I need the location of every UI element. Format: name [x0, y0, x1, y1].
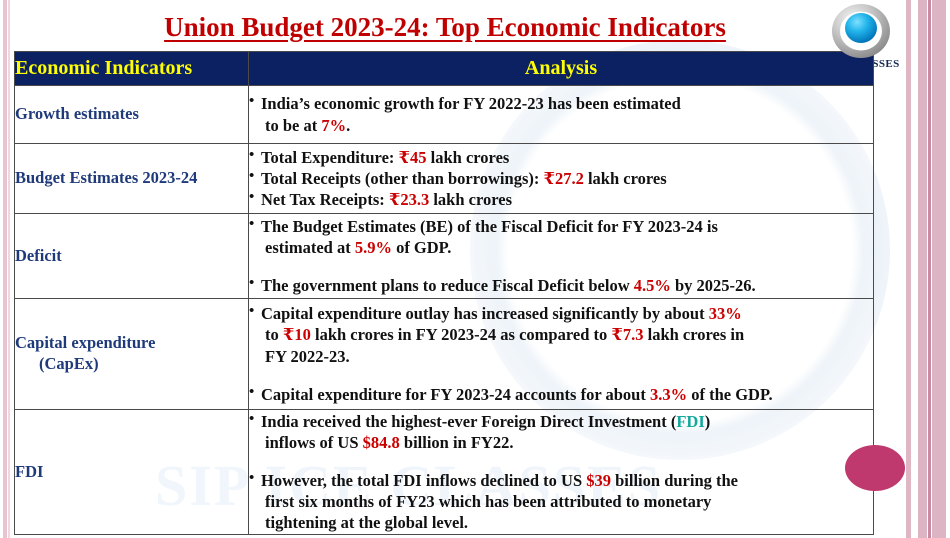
bullet-text: lakh crores	[584, 169, 667, 188]
bullet-text: lakh crores in	[643, 325, 744, 344]
table-row: Deficit The Budget Estimates (BE) of the…	[15, 214, 874, 299]
bullet-text: )	[705, 412, 711, 431]
table-row: Capital expenditure (CapEx) Capital expe…	[15, 299, 874, 410]
bullet-item: Capital expenditure for FY 2023-24 accou…	[249, 384, 873, 405]
page-title: Union Budget 2023-24: Top Economic Indic…	[0, 12, 890, 43]
bullet-item: The Budget Estimates (BE) of the Fiscal …	[249, 216, 873, 258]
table-row: FDI India received the highest-ever Fore…	[15, 410, 874, 535]
highlight-value: 7%	[321, 116, 346, 135]
row-label-subtext: (CapEx)	[15, 354, 248, 375]
bullet-item: Total Expenditure: ₹45 lakh crores	[249, 147, 873, 168]
right-stripe-4	[932, 0, 946, 538]
table-row: Budget Estimates 2023-24 Total Expenditu…	[15, 144, 874, 214]
highlight-value: $39	[586, 471, 611, 490]
row-analysis-deficit: The Budget Estimates (BE) of the Fiscal …	[249, 214, 874, 299]
economic-indicators-table: Economic Indicators Analysis Growth esti…	[14, 51, 874, 535]
bullet-line: estimated at 5.9% of GDP.	[261, 237, 873, 258]
bullet-text: of GDP.	[392, 238, 451, 257]
highlight-value: 3.3%	[650, 385, 687, 404]
bullet-line: to be at 7%.	[261, 115, 873, 136]
row-label-text: Capital expenditure	[15, 333, 155, 352]
highlight-value: 4.5%	[634, 276, 671, 295]
highlight-value: 5.9%	[355, 238, 392, 257]
right-stripe-3	[928, 0, 931, 538]
bullet-text: .	[346, 116, 350, 135]
bullet-line: inflows of US $84.8 billion in FY22.	[261, 432, 873, 453]
bullet-text: India’s economic growth for FY 2022-23 h…	[261, 94, 681, 113]
right-stripe-1	[906, 0, 911, 538]
bullet-text: billion during the	[611, 471, 738, 490]
bullet-text: Capital expenditure for FY 2023-24 accou…	[261, 385, 650, 404]
highlight-value: ₹10	[283, 325, 311, 344]
bullet-item: The government plans to reduce Fiscal De…	[249, 275, 873, 296]
bullet-item: However, the total FDI inflows declined …	[249, 470, 873, 533]
rose-ellipse-decoration	[845, 445, 905, 491]
bullet-item: Capital expenditure outlay has increased…	[249, 303, 873, 366]
highlight-value: ₹27.2	[543, 169, 583, 188]
row-analysis-growth-estimates: India’s economic growth for FY 2022-23 h…	[249, 86, 874, 144]
row-label-growth-estimates: Growth estimates	[15, 86, 249, 144]
bullet-text: by 2025-26.	[671, 276, 756, 295]
bullet-item: Net Tax Receipts: ₹23.3 lakh crores	[249, 189, 873, 210]
row-label-capital-expenditure: Capital expenditure (CapEx)	[15, 299, 249, 410]
bullet-text: Capital expenditure outlay has increased…	[261, 304, 709, 323]
table-header-row: Economic Indicators Analysis	[15, 52, 874, 86]
bullet-item: Total Receipts (other than borrowings): …	[249, 168, 873, 189]
table-row: Growth estimates India’s economic growth…	[15, 86, 874, 144]
row-analysis-capital-expenditure: Capital expenditure outlay has increased…	[249, 299, 874, 410]
bullet-text: lakh crores in FY 2023-24 as compared to	[311, 325, 612, 344]
highlight-value: ₹45	[399, 148, 427, 167]
column-header-analysis: Analysis	[249, 52, 874, 86]
highlight-value: 33%	[709, 304, 742, 323]
bullet-line: tightening at the global level.	[261, 512, 873, 533]
bullet-line: to ₹10 lakh crores in FY 2023-24 as comp…	[261, 324, 873, 345]
bullet-item: India received the highest-ever Foreign …	[249, 411, 873, 453]
row-label-budget-estimates: Budget Estimates 2023-24	[15, 144, 249, 214]
bullet-text: Net Tax Receipts:	[261, 190, 389, 209]
bullet-text: to	[265, 325, 283, 344]
right-stripe-2	[918, 0, 927, 538]
brand-logo-icon	[830, 2, 892, 60]
bullet-text: of the GDP.	[687, 385, 773, 404]
row-label-fdi: FDI	[15, 410, 249, 535]
bullet-item: India’s economic growth for FY 2022-23 h…	[249, 93, 873, 135]
bullet-text: However, the total FDI inflows declined …	[261, 471, 586, 490]
bullet-line: first six months of FY23 which has been …	[261, 491, 873, 512]
bullet-text: lakh crores	[429, 190, 512, 209]
bullet-text: billion in FY22.	[400, 433, 514, 452]
bullet-text: to be at	[265, 116, 321, 135]
bullet-text: lakh crores	[427, 148, 510, 167]
highlight-value: ₹23.3	[389, 190, 429, 209]
bullet-line: FY 2022-23.	[261, 346, 873, 367]
left-stripe-outer	[3, 0, 7, 538]
bullet-text: The government plans to reduce Fiscal De…	[261, 276, 634, 295]
column-header-indicators: Economic Indicators	[15, 52, 249, 86]
highlight-value: ₹7.3	[611, 325, 643, 344]
bullet-text: estimated at	[265, 238, 355, 257]
bullet-text: Total Expenditure:	[261, 148, 399, 167]
bullet-text: India received the highest-ever Foreign …	[261, 412, 676, 431]
highlight-value-teal: FDI	[676, 412, 704, 431]
row-analysis-fdi: India received the highest-ever Foreign …	[249, 410, 874, 535]
highlight-value: $84.8	[363, 433, 400, 452]
bullet-text: The Budget Estimates (BE) of the Fiscal …	[261, 217, 718, 236]
row-label-deficit: Deficit	[15, 214, 249, 299]
left-stripe-inner	[8, 0, 10, 538]
bullet-text: Total Receipts (other than borrowings):	[261, 169, 543, 188]
row-analysis-budget-estimates: Total Expenditure: ₹45 lakh crores Total…	[249, 144, 874, 214]
bullet-text: inflows of US	[265, 433, 363, 452]
